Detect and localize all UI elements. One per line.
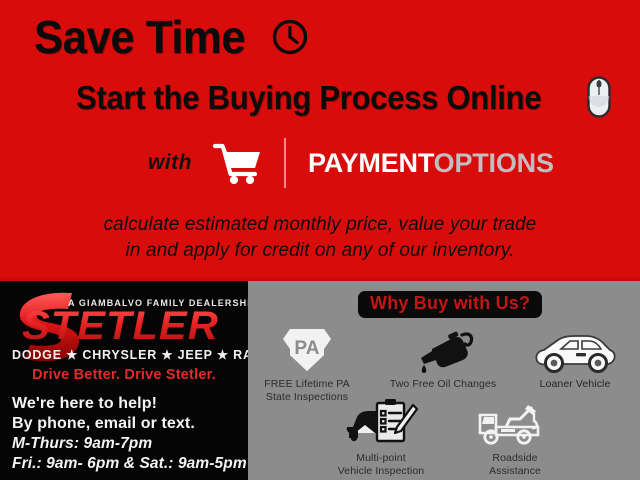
payment-options-wordmark: PAYMENTOPTIONS [308,148,554,179]
clock-icon [270,17,310,57]
car-icon [520,319,630,375]
promo-banner: Save Time Start the Buying Process Onlin… [0,0,640,480]
perk-oil-changes: Two Free Oil Changes [388,319,498,391]
oil-can-icon [388,319,498,375]
contact-line-1: We're here to help! [12,394,247,414]
perk-loaner-vehicle: Loaner Vehicle [520,319,630,391]
perk-multipoint-inspection: Multi-point Vehicle Inspection [326,393,436,478]
dealer-brands: DODGE ★ CHRYSLER ★ JEEP ★ RAM [12,347,236,362]
headline-primary-text: Save Time [34,14,245,60]
headline-secondary-text: Start the Buying Process Online [76,81,541,114]
perk-label-line-1: Two Free Oil Changes [388,378,498,391]
with-label: with [148,151,192,175]
contact-info: We're here to help! By phone, email or t… [12,394,247,474]
hero-red-panel: Save Time Start the Buying Process Onlin… [0,0,640,281]
contact-hours-weekday: M-Thurs: 9am-7pm [12,434,247,454]
computer-mouse-icon [583,76,611,118]
headline-primary: Save Time [34,14,310,60]
dealer-info-panel: A GIAMBALVO FAMILY DEALERSHIP STETLER DO… [0,281,248,480]
dealer-name: STETLER [22,304,219,349]
sub-copy-line-2: in and apply for credit on any of our in… [0,238,640,264]
payment-options-lockup: with PAYMENTOPTIONS [148,134,560,192]
headline-secondary: Start the Buying Process Online [76,76,611,118]
wordmark-options: OPTIONS [434,148,554,178]
dealer-slogan: Drive Better. Drive Stetler. [0,367,248,383]
shopping-cart-icon [212,140,264,186]
sub-copy-line-1: calculate estimated monthly price, value… [0,212,640,238]
why-buy-panel: Why Buy with Us? PA FREE Lifetime PA Sta… [248,281,640,480]
payment-options-logo: PAYMENTOPTIONS [206,134,560,192]
perk-label-line-2: Assistance [460,465,570,478]
dealer-logo: A GIAMBALVO FAMILY DEALERSHIP STETLER DO… [0,281,248,377]
perk-label-line-1: Roadside [460,452,570,465]
perk-label-line-2: Vehicle Inspection [326,465,436,478]
wordmark-payment: PAYMENT [308,148,434,178]
logo-divider [284,138,286,188]
contact-line-2: By phone, email or text. [12,414,247,434]
tow-truck-icon [460,393,570,449]
svg-text:PA: PA [294,338,319,359]
perk-roadside-assistance: Roadside Assistance [460,393,570,478]
pa-keystone-icon: PA [252,319,362,375]
perk-pa-inspections: PA FREE Lifetime PA State Inspections [252,319,362,404]
perk-label-line-1: FREE Lifetime PA [252,378,362,391]
perk-label-line-1: Multi-point [326,452,436,465]
perk-label-line-1: Loaner Vehicle [520,378,630,391]
contact-hours-weekend: Fri.: 9am- 6pm & Sat.: 9am-5pm [12,454,247,474]
clipboard-car-icon [326,393,436,449]
why-buy-heading: Why Buy with Us? [358,291,542,318]
sub-copy: calculate estimated monthly price, value… [0,212,640,264]
